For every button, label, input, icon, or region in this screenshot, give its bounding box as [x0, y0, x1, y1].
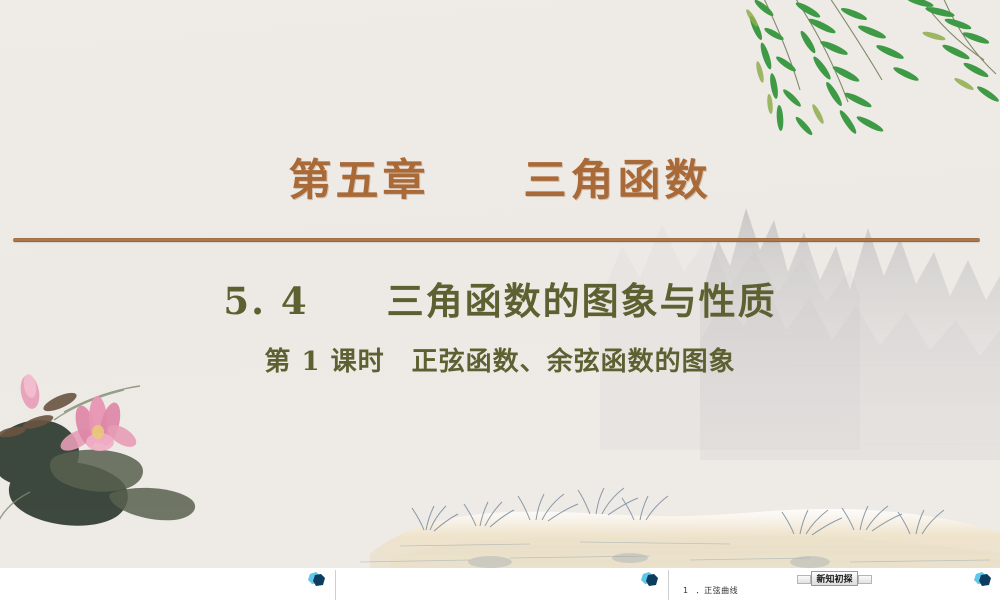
hex-marker-icon-3[interactable] [971, 572, 993, 588]
header-tick-left-icon [797, 575, 811, 584]
lesson-title: 第 1 课时 正弦函数、余弦函数的图象 [0, 341, 1000, 378]
thumbnail-item-label: ．正弦曲线 [696, 586, 739, 595]
slide-canvas: 第五章 三角函数 5. 4 三角函数的图象与性质 第 1 课时 正弦函数、余弦函… [0, 0, 1000, 568]
slide-stage: 第五章 三角函数 5. 4 三角函数的图象与性质 第 1 课时 正弦函数、余弦函… [0, 0, 1000, 600]
hex-marker-icon-1[interactable] [305, 572, 327, 588]
thumbnail-header-label: 新知初探 [811, 571, 857, 586]
filmstrip: 新知初探 1．正弦曲线 [0, 568, 1000, 600]
willow-branch-decoration [730, 0, 1000, 144]
chapter-title: 第五章 三角函数 [0, 146, 1000, 208]
title-divider-rule [13, 238, 980, 242]
thumbnail-item-number: 1 [683, 586, 689, 595]
riverbank-grass-decoration [330, 458, 1000, 568]
thumbnail-item-1: 1．正弦曲线 [683, 585, 738, 596]
thumbnail-header: 新知初探 [669, 571, 1000, 586]
filmstrip-pane-3[interactable]: 新知初探 1．正弦曲线 [669, 568, 1000, 600]
section-title: 5. 4 三角函数的图象与性质 [0, 271, 1000, 325]
lotus-ink-painting-decoration [0, 360, 224, 540]
header-tick-right-icon [858, 575, 872, 584]
hex-marker-icon-2[interactable] [638, 572, 660, 588]
filmstrip-pane-1[interactable] [0, 568, 335, 600]
filmstrip-pane-2[interactable] [336, 568, 668, 600]
